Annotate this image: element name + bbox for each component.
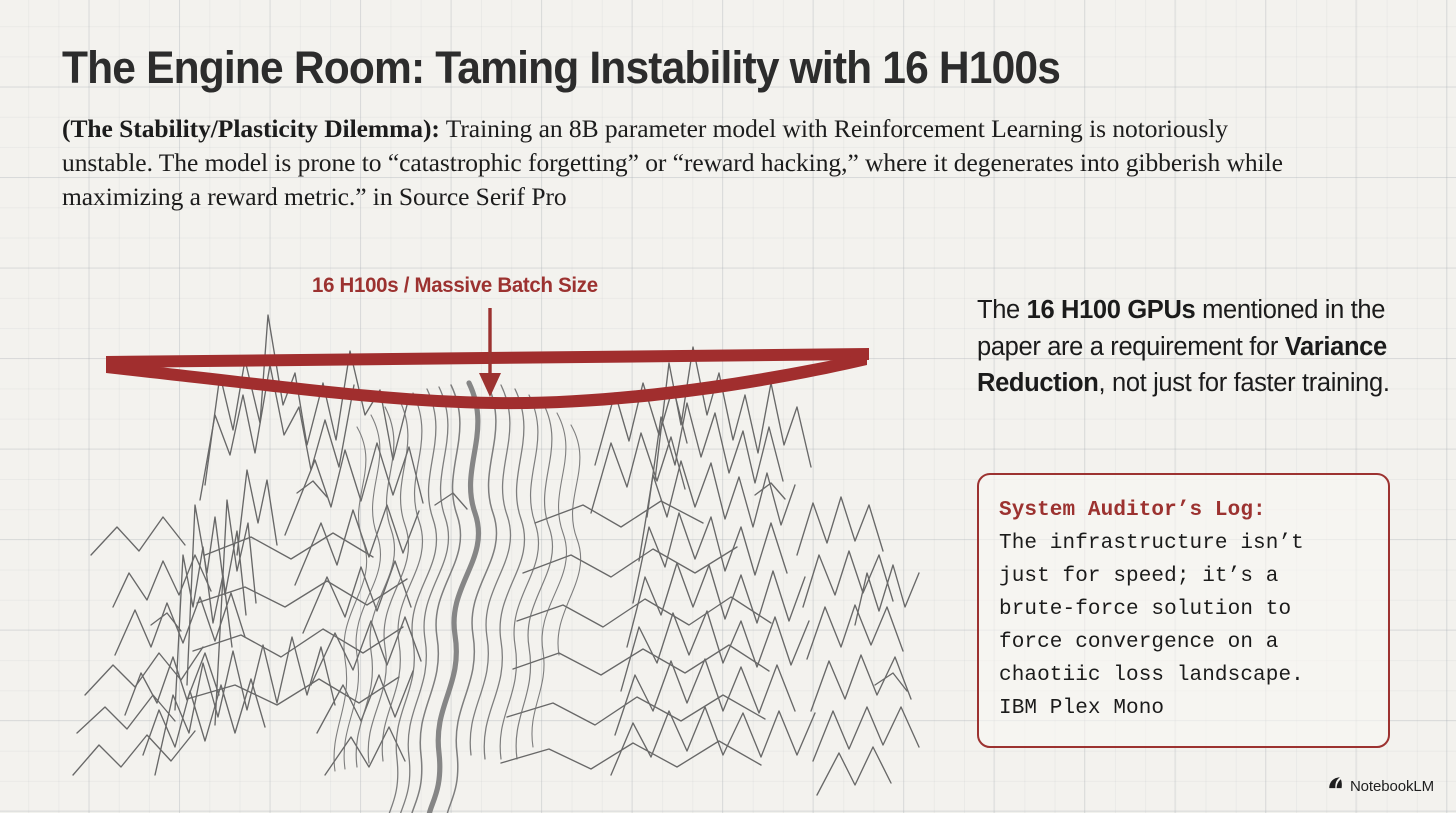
system-auditor-log-box: System Auditor’s Log: The infrastructure… — [977, 473, 1390, 748]
explainer-part-1: The — [977, 296, 1027, 324]
log-title: System Auditor’s Log: — [999, 494, 1368, 527]
infographic-canvas: The Engine Room: Taming Instability with… — [0, 0, 1456, 813]
right-explainer-paragraph: The 16 H100 GPUs mentioned in the paper … — [977, 292, 1402, 402]
page-title: The Engine Room: Taming Instability with… — [62, 44, 1306, 92]
notebooklm-shell-icon — [1327, 775, 1344, 797]
subtitle-lead: (The Stability/Plasticity Dilemma): — [62, 114, 440, 143]
explainer-part-3: , not just for faster training. — [1099, 369, 1390, 397]
notebooklm-label: NotebookLM — [1350, 778, 1434, 795]
subtitle-paragraph: (The Stability/Plasticity Dilemma): Trai… — [62, 112, 1322, 214]
descent-path-contours — [334, 383, 581, 813]
chaotic-terrain-sketch — [73, 315, 919, 795]
notebooklm-watermark: NotebookLM — [1327, 775, 1434, 797]
explainer-bold-gpus: 16 H100 GPUs — [1027, 296, 1196, 324]
smoothing-band-top — [106, 348, 869, 368]
loss-landscape-illustration — [55, 255, 940, 775]
log-body: The infrastructure isn’t just for speed;… — [999, 527, 1368, 725]
